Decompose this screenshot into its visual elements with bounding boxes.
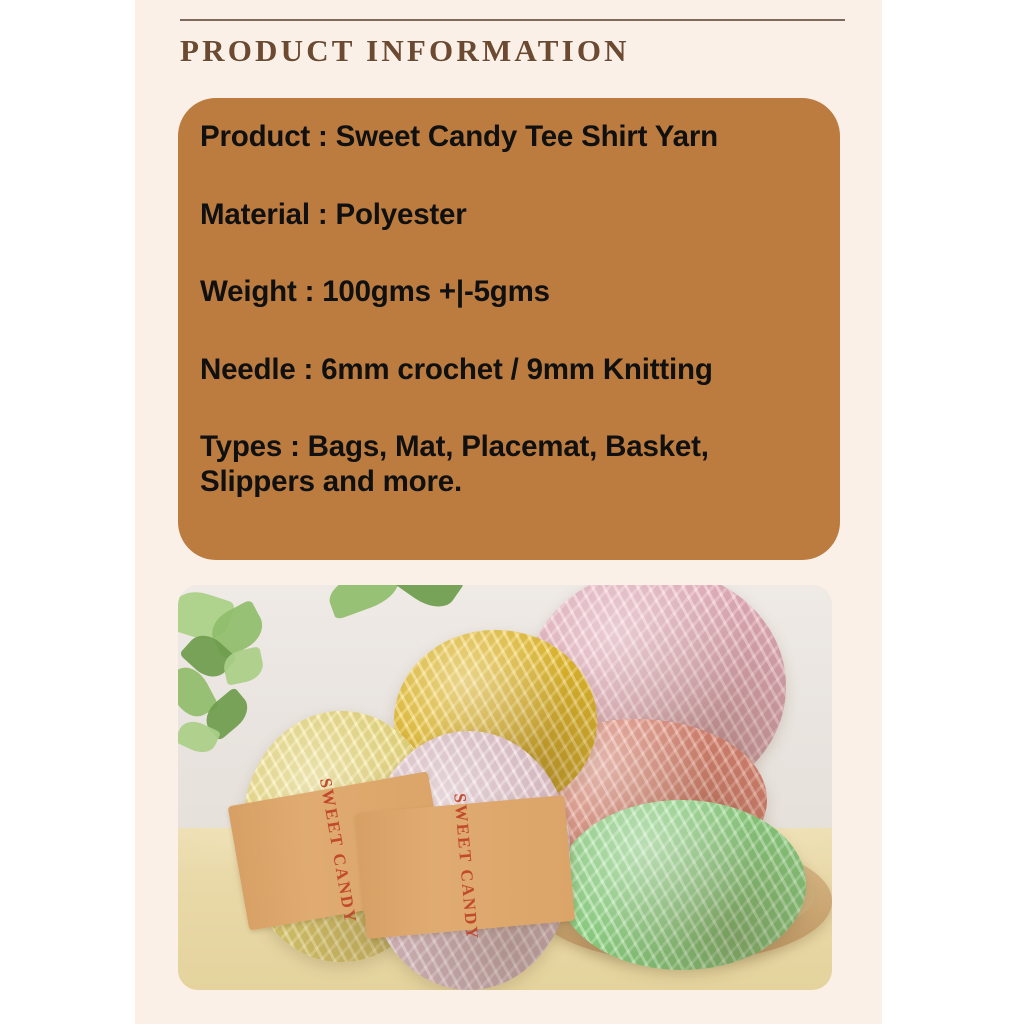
- info-line-types: Types : Bags, Mat, Placemat, Basket, Sli…: [200, 430, 814, 499]
- product-photo: SWEET CANDY SWEET CANDY: [178, 585, 832, 990]
- yarn-ball-green: [557, 800, 806, 970]
- header-divider: [180, 19, 845, 21]
- product-info-card: Product : Sweet Candy Tee Shirt Yarn Mat…: [178, 98, 840, 560]
- page-title: PRODUCT INFORMATION: [180, 33, 630, 69]
- brand-label-band-pink: SWEET CANDY: [356, 795, 575, 938]
- info-line-material: Material : Polyester: [200, 198, 814, 233]
- brand-label-text: SWEET CANDY: [315, 776, 362, 925]
- info-line-product: Product : Sweet Candy Tee Shirt Yarn: [200, 120, 814, 155]
- photo-scene: SWEET CANDY SWEET CANDY: [178, 585, 832, 990]
- info-line-needle: Needle : 6mm crochet / 9mm Knitting: [200, 353, 814, 388]
- product-information-page: PRODUCT INFORMATION Product : Sweet Cand…: [0, 0, 1024, 1024]
- brand-label-text: SWEET CANDY: [449, 792, 483, 941]
- yarn-shading: [557, 800, 806, 970]
- info-line-weight: Weight : 100gms +|-5gms: [200, 275, 814, 310]
